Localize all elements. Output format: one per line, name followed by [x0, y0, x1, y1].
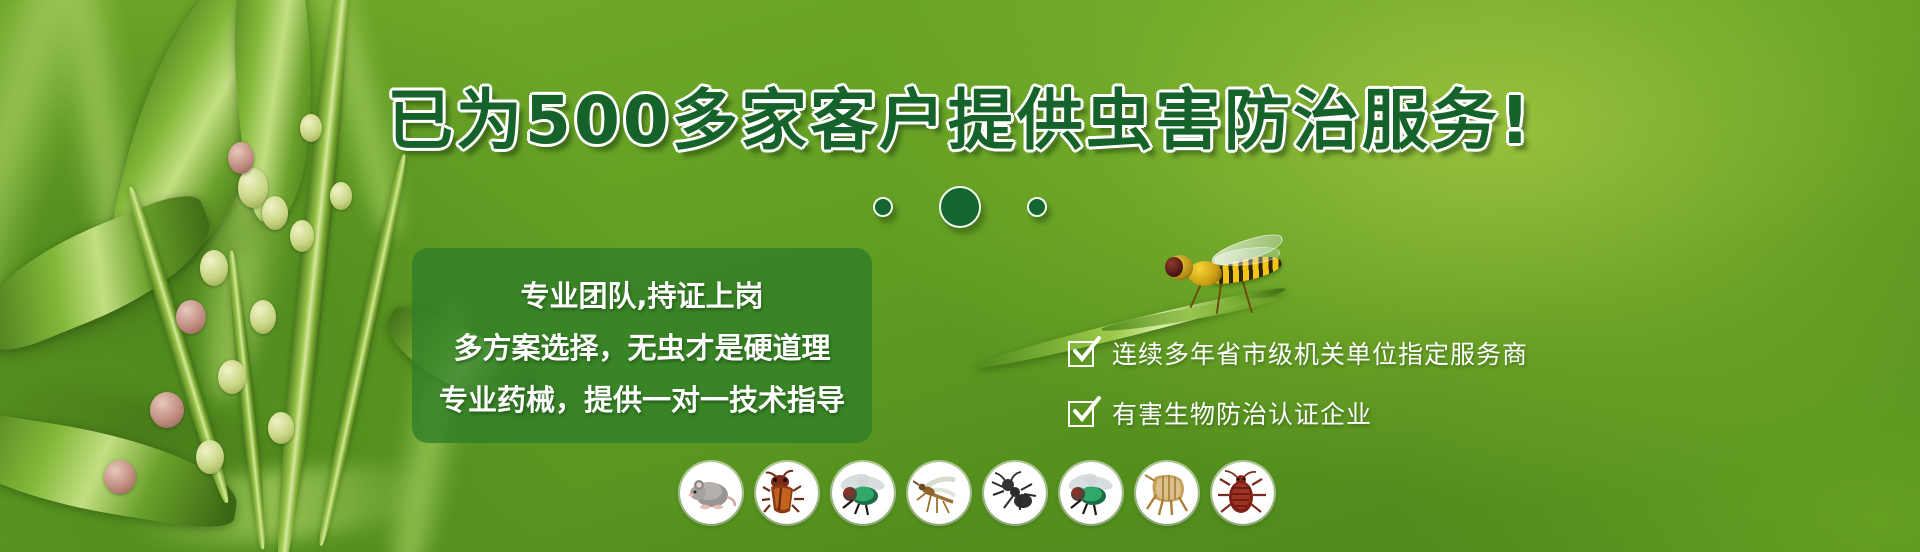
checkbox-checked-icon [1068, 398, 1098, 428]
page-title: 已为500多家客户提供虫害防治服务! [0, 88, 1920, 154]
pest-type-icons [680, 462, 1274, 524]
selling-point-line-1: 专业团队,持证上岗 [520, 273, 763, 315]
dot-large-center [939, 186, 981, 228]
credential-label: 连续多年省市级机关单位指定服务商 [1112, 335, 1528, 371]
pest-control-banner: 已为500多家客户提供虫害防治服务! 专业团队,持证上岗 多方案选择，无虫才是硬… [0, 0, 1920, 552]
fly-icon[interactable] [832, 462, 894, 524]
mosquito-icon[interactable] [908, 462, 970, 524]
selling-point-line-3: 专业药械，提供一对一技术指导 [439, 377, 845, 419]
decorative-dots [0, 186, 1920, 228]
dot-small-left [873, 197, 893, 217]
bedbug-icon[interactable] [1212, 462, 1274, 524]
selling-point-line-2: 多方案选择，无虫才是硬道理 [453, 325, 830, 367]
mouse-icon[interactable] [680, 462, 742, 524]
list-item: 有害生物防治认证企业 [1068, 395, 1528, 431]
fly-icon[interactable] [1060, 462, 1122, 524]
ant-icon[interactable] [984, 462, 1046, 524]
selling-points-panel: 专业团队,持证上岗 多方案选择，无虫才是硬道理 专业药械，提供一对一技术指导 [412, 248, 872, 443]
flea-icon[interactable] [1136, 462, 1198, 524]
cockroach-icon[interactable] [756, 462, 818, 524]
checkbox-checked-icon [1068, 338, 1098, 368]
list-item: 连续多年省市级机关单位指定服务商 [1068, 335, 1528, 371]
credentials-list: 连续多年省市级机关单位指定服务商 有害生物防治认证企业 [1068, 335, 1528, 431]
hoverfly-icon [1162, 242, 1294, 304]
dot-small-right [1027, 197, 1047, 217]
credential-label: 有害生物防治认证企业 [1112, 395, 1372, 431]
